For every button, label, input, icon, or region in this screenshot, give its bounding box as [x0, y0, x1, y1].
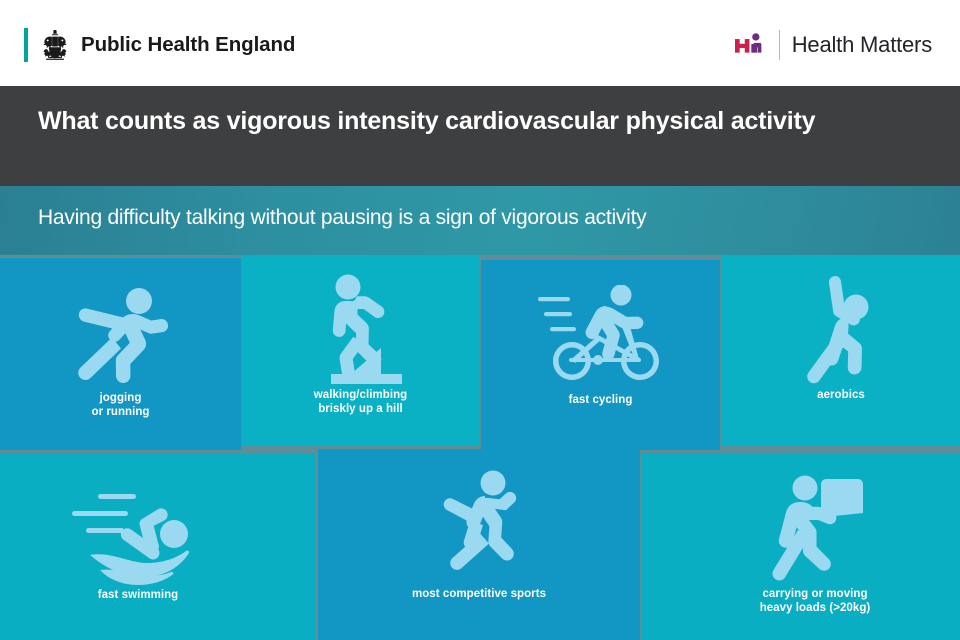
activity-label-aerobics: aerobics	[722, 388, 960, 402]
title-band: What counts as vigorous intensity cardio…	[0, 86, 960, 186]
page-title: What counts as vigorous intensity cardio…	[38, 105, 838, 137]
activity-card-grid: jogging or running walking/climbing bris	[0, 255, 960, 640]
subtitle-band: Having difficulty talking without pausin…	[0, 186, 960, 255]
swimmer-icon	[0, 485, 296, 593]
activity-card-sports: most competitive sports	[318, 449, 640, 640]
health-matters-logo: Health Matters	[735, 28, 932, 62]
public-health-england-logo: Public Health England	[24, 27, 295, 63]
label-line-1: fast swimming	[0, 588, 296, 602]
label-line-2: heavy loads (>20kg)	[656, 601, 960, 615]
royal-crest-icon	[38, 28, 72, 62]
label-line-1: fast cycling	[481, 393, 720, 407]
phe-accent-bar	[24, 28, 28, 62]
activity-label-jogging: jogging or running	[0, 391, 241, 420]
label-line-2: or running	[0, 405, 241, 419]
activity-card-walking: walking/climbing briskly up a hill	[242, 255, 479, 445]
competitive-sports-person-icon	[318, 469, 640, 583]
activity-card-swimming: fast swimming	[0, 453, 316, 640]
activity-card-jogging: jogging or running	[0, 258, 241, 450]
activity-card-aerobics: aerobics	[722, 255, 960, 445]
health-matters-wordmark: Health Matters	[792, 34, 932, 56]
hill-climbing-person-icon	[242, 273, 479, 391]
cyclist-icon	[481, 282, 720, 388]
running-person-icon	[0, 280, 241, 388]
label-line-1: aerobics	[722, 388, 960, 402]
label-line-1: walking/climbing	[242, 388, 479, 402]
phe-wordmark: Public Health England	[81, 35, 295, 56]
label-line-2: briskly up a hill	[242, 402, 479, 416]
carrying-load-person-icon	[656, 473, 960, 587]
activity-card-carrying: carrying or moving heavy loads (>20kg)	[642, 453, 960, 640]
activity-label-sports: most competitive sports	[318, 587, 640, 601]
health-matters-logo-icon	[735, 32, 769, 58]
label-line-1: jogging	[0, 391, 241, 405]
activity-label-carrying: carrying or moving heavy loads (>20kg)	[656, 587, 960, 616]
brand-header: Public Health England Health Matters	[0, 0, 960, 86]
activity-card-cycling: fast cycling	[481, 260, 720, 450]
label-line-1: carrying or moving	[656, 587, 960, 601]
aerobics-person-icon	[722, 275, 960, 385]
infographic-page: Public Health England Health Matters Wha…	[0, 0, 960, 640]
activity-label-walking: walking/climbing briskly up a hill	[242, 388, 479, 417]
logo-divider	[779, 30, 780, 60]
activity-label-swimming: fast swimming	[0, 588, 296, 602]
label-line-1: most competitive sports	[318, 587, 640, 601]
activity-label-cycling: fast cycling	[481, 393, 720, 407]
subtitle-text: Having difficulty talking without pausin…	[38, 205, 646, 230]
